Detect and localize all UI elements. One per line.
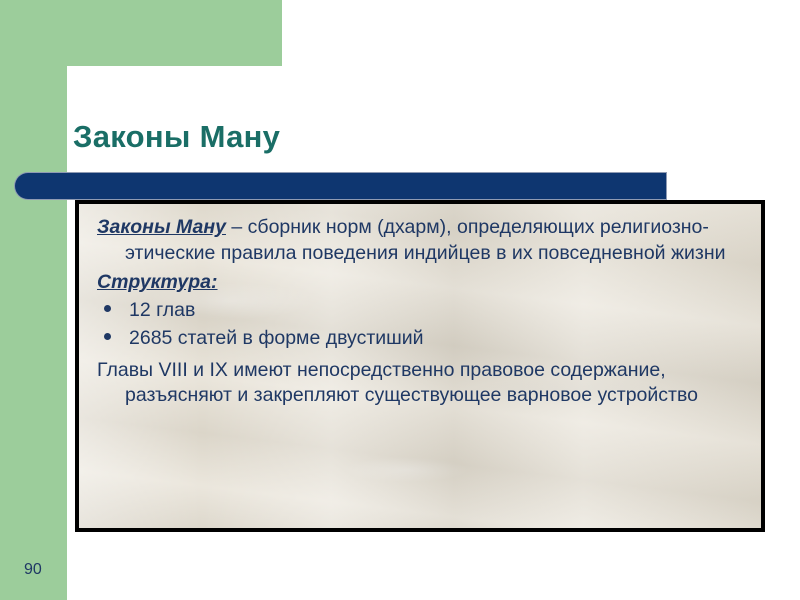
closing-paragraph: Главы VIII и IX имеют непосредственно пр… <box>97 358 747 409</box>
definition-term: Законы Ману <box>97 216 226 238</box>
list-item: 2685 статей в форме двустиший <box>97 326 747 352</box>
content-box-inner: Законы Ману – сборник норм (дхарм), опре… <box>79 204 761 409</box>
slide: Законы Ману Законы Ману – сборник норм (… <box>0 0 800 600</box>
content-box: Законы Ману – сборник норм (дхарм), опре… <box>75 200 765 532</box>
definition-paragraph: Законы Ману – сборник норм (дхарм), опре… <box>97 215 747 266</box>
list-item: 12 глав <box>97 298 747 324</box>
list-item-label: 12 глав <box>129 298 747 324</box>
page-title: Законы Ману <box>73 119 280 155</box>
bullet-icon <box>104 305 111 312</box>
navy-divider-bar <box>15 173 666 199</box>
top-green-block <box>0 0 282 66</box>
bullet-icon <box>104 333 111 340</box>
structure-heading: Структура: <box>97 270 747 296</box>
page-number: 90 <box>24 561 42 579</box>
left-green-strip <box>0 0 67 600</box>
list-item-label: 2685 статей в форме двустиший <box>129 326 747 352</box>
